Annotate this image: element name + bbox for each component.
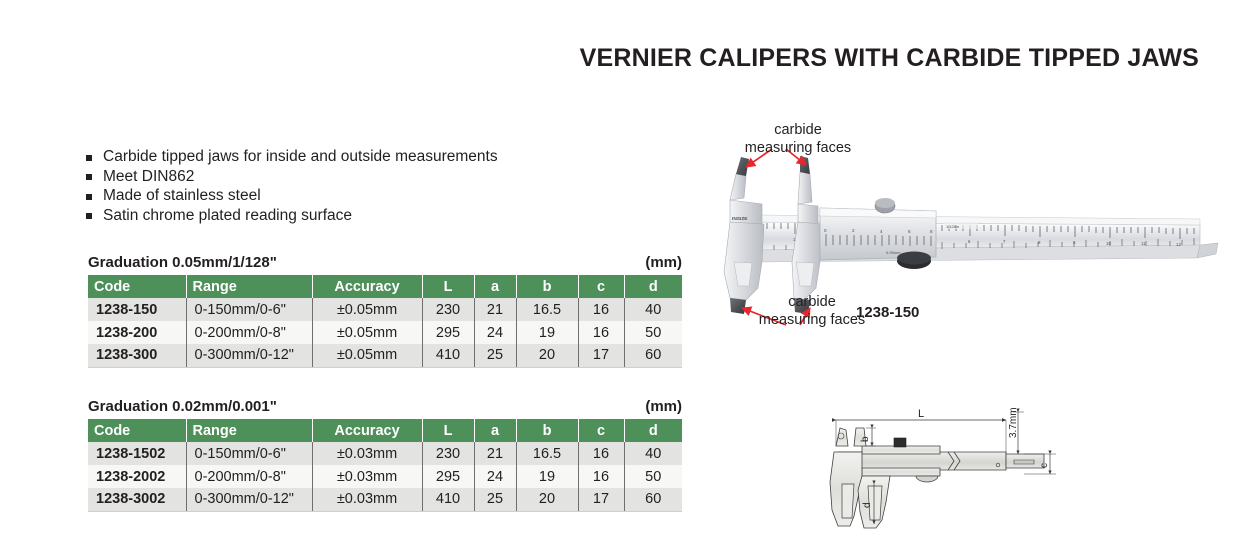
column-header-code: Code [88,275,186,298]
cell-l: 295 [422,465,474,488]
column-header-range: Range [186,419,312,442]
spec-caption: Graduation 0.05mm/1/128" (mm) [88,254,682,271]
cell-range: 0-300mm/0-12" [186,488,312,511]
cell-l: 230 [422,298,474,321]
spec-block-graduation-002: Graduation 0.02mm/0.001" (mm) Code Range… [88,398,682,512]
svg-text:8: 8 [930,229,933,234]
feature-item: Made of stainless steel [86,186,498,206]
feature-item-label: Carbide tipped jaws for inside and outsi… [103,148,498,165]
column-header-accuracy: Accuracy [312,419,422,442]
cell-d: 40 [624,298,682,321]
cell-code: 1238-3002 [88,488,186,511]
bullet-square-icon [86,155,92,161]
dim-label-L: L [918,408,924,420]
svg-text:1/128in: 1/128in [946,224,959,229]
spec-caption: Graduation 0.02mm/0.001" (mm) [88,398,682,415]
page-title: VERNIER CALIPERS WITH CARBIDE TIPPED JAW… [0,44,1199,73]
column-header-l: L [422,419,474,442]
dim-label-b: b [860,436,871,442]
technical-drawing-figure: L b d [828,398,1078,550]
cell-b: 16.5 [516,442,578,465]
cell-a: 25 [474,488,516,511]
table-header-row: Code Range Accuracy L a b c d [88,275,682,298]
cell-d: 40 [624,442,682,465]
feature-item: Carbide tipped jaws for inside and outsi… [86,147,498,167]
cell-b: 19 [516,465,578,488]
cell-b: 20 [516,488,578,511]
column-header-accuracy: Accuracy [312,275,422,298]
cell-c: 17 [578,488,624,511]
cell-c: 16 [578,465,624,488]
cell-a: 24 [474,321,516,344]
table-row: 1238-1502 0-150mm/0-6" ±0.03mm 230 21 16… [88,442,682,465]
cell-c: 17 [578,344,624,367]
product-photo-figure: 123 456 789 101112 INSIZE [700,112,1220,337]
cell-accuracy: ±0.05mm [312,321,422,344]
dim-label-c: c [1039,463,1050,468]
svg-text:6: 6 [908,229,911,234]
table-row: 1238-150 0-150mm/0-6" ±0.05mm 230 21 16.… [88,298,682,321]
cell-accuracy: ±0.03mm [312,465,422,488]
cell-accuracy: ±0.03mm [312,442,422,465]
bullet-square-icon [86,174,92,180]
column-header-c: c [578,275,624,298]
column-header-c: c [578,419,624,442]
feature-item: Satin chrome plated reading surface [86,206,498,226]
svg-text:INSIZE: INSIZE [732,216,748,222]
bullet-square-icon [86,213,92,219]
graduation-label: Graduation 0.05mm/1/128" [88,254,277,271]
cell-a: 25 [474,344,516,367]
table-row: 1238-300 0-300mm/0-12" ±0.05mm 410 25 20… [88,344,682,367]
cell-code: 1238-1502 [88,442,186,465]
table-row: 1238-3002 0-300mm/0-12" ±0.03mm 410 25 2… [88,488,682,511]
feature-item: Meet DIN862 [86,167,498,187]
caliper-dimension-drawing: L b d [828,398,1078,550]
table-row: 1238-200 0-200mm/0-8" ±0.05mm 295 24 19 … [88,321,682,344]
cell-d: 60 [624,488,682,511]
cell-d: 50 [624,321,682,344]
svg-text:12: 12 [1176,242,1181,247]
column-header-code: Code [88,419,186,442]
table-header-row: Code Range Accuracy L a b c d [88,419,682,442]
svg-text:11: 11 [1141,241,1146,246]
cell-a: 21 [474,298,516,321]
column-header-d: d [624,419,682,442]
cell-b: 19 [516,321,578,344]
cell-code: 1238-150 [88,298,186,321]
graduation-label: Graduation 0.02mm/0.001" [88,398,277,415]
cell-a: 24 [474,465,516,488]
annotation-line-2: measuring faces [708,140,888,158]
feature-list: Carbide tipped jaws for inside and outsi… [86,147,498,225]
cell-d: 60 [624,344,682,367]
cell-l: 410 [422,344,474,367]
column-header-b: b [516,419,578,442]
cell-accuracy: ±0.05mm [312,298,422,321]
annotation-line-1: carbide [708,122,888,140]
spec-block-graduation-005: Graduation 0.05mm/1/128" (mm) Code Range… [88,254,682,368]
column-header-range: Range [186,275,312,298]
cell-a: 21 [474,442,516,465]
cell-b: 16.5 [516,298,578,321]
cell-code: 1238-2002 [88,465,186,488]
product-model-label: 1238-150 [856,304,919,321]
cell-range: 0-200mm/0-8" [186,321,312,344]
svg-text:0: 0 [824,228,827,233]
cell-accuracy: ±0.05mm [312,344,422,367]
cell-range: 0-150mm/0-6" [186,298,312,321]
table-row: 1238-2002 0-200mm/0-8" ±0.03mm 295 24 19… [88,465,682,488]
cell-c: 16 [578,321,624,344]
cell-l: 230 [422,442,474,465]
cell-d: 50 [624,465,682,488]
cell-code: 1238-200 [88,321,186,344]
annotation-carbide-faces-top: carbide measuring faces [708,122,888,157]
cell-range: 0-150mm/0-6" [186,442,312,465]
unit-label: (mm) [645,254,682,271]
feature-item-label: Meet DIN862 [103,168,194,185]
cell-b: 20 [516,344,578,367]
dim-label-thickness: 3.7mm [1008,407,1019,438]
column-header-a: a [474,275,516,298]
cell-range: 0-200mm/0-8" [186,465,312,488]
svg-text:4: 4 [880,229,883,234]
column-header-a: a [474,419,516,442]
cell-l: 295 [422,321,474,344]
cell-range: 0-300mm/0-12" [186,344,312,367]
cell-code: 1238-300 [88,344,186,367]
column-header-d: d [624,275,682,298]
svg-text:10: 10 [1106,241,1111,246]
bullet-square-icon [86,194,92,200]
unit-label: (mm) [645,398,682,415]
svg-text:0.05mm: 0.05mm [886,250,901,255]
column-header-l: L [422,275,474,298]
spec-table: Code Range Accuracy L a b c d 1238-150 0… [88,275,682,368]
spec-table: Code Range Accuracy L a b c d 1238-1502 … [88,419,682,512]
cell-c: 16 [578,442,624,465]
cell-l: 410 [422,488,474,511]
dim-label-d: d [862,502,873,508]
feature-item-label: Satin chrome plated reading surface [103,207,352,224]
cell-accuracy: ±0.03mm [312,488,422,511]
feature-item-label: Made of stainless steel [103,187,261,204]
cell-c: 16 [578,298,624,321]
svg-text:2: 2 [852,228,855,233]
column-header-b: b [516,275,578,298]
